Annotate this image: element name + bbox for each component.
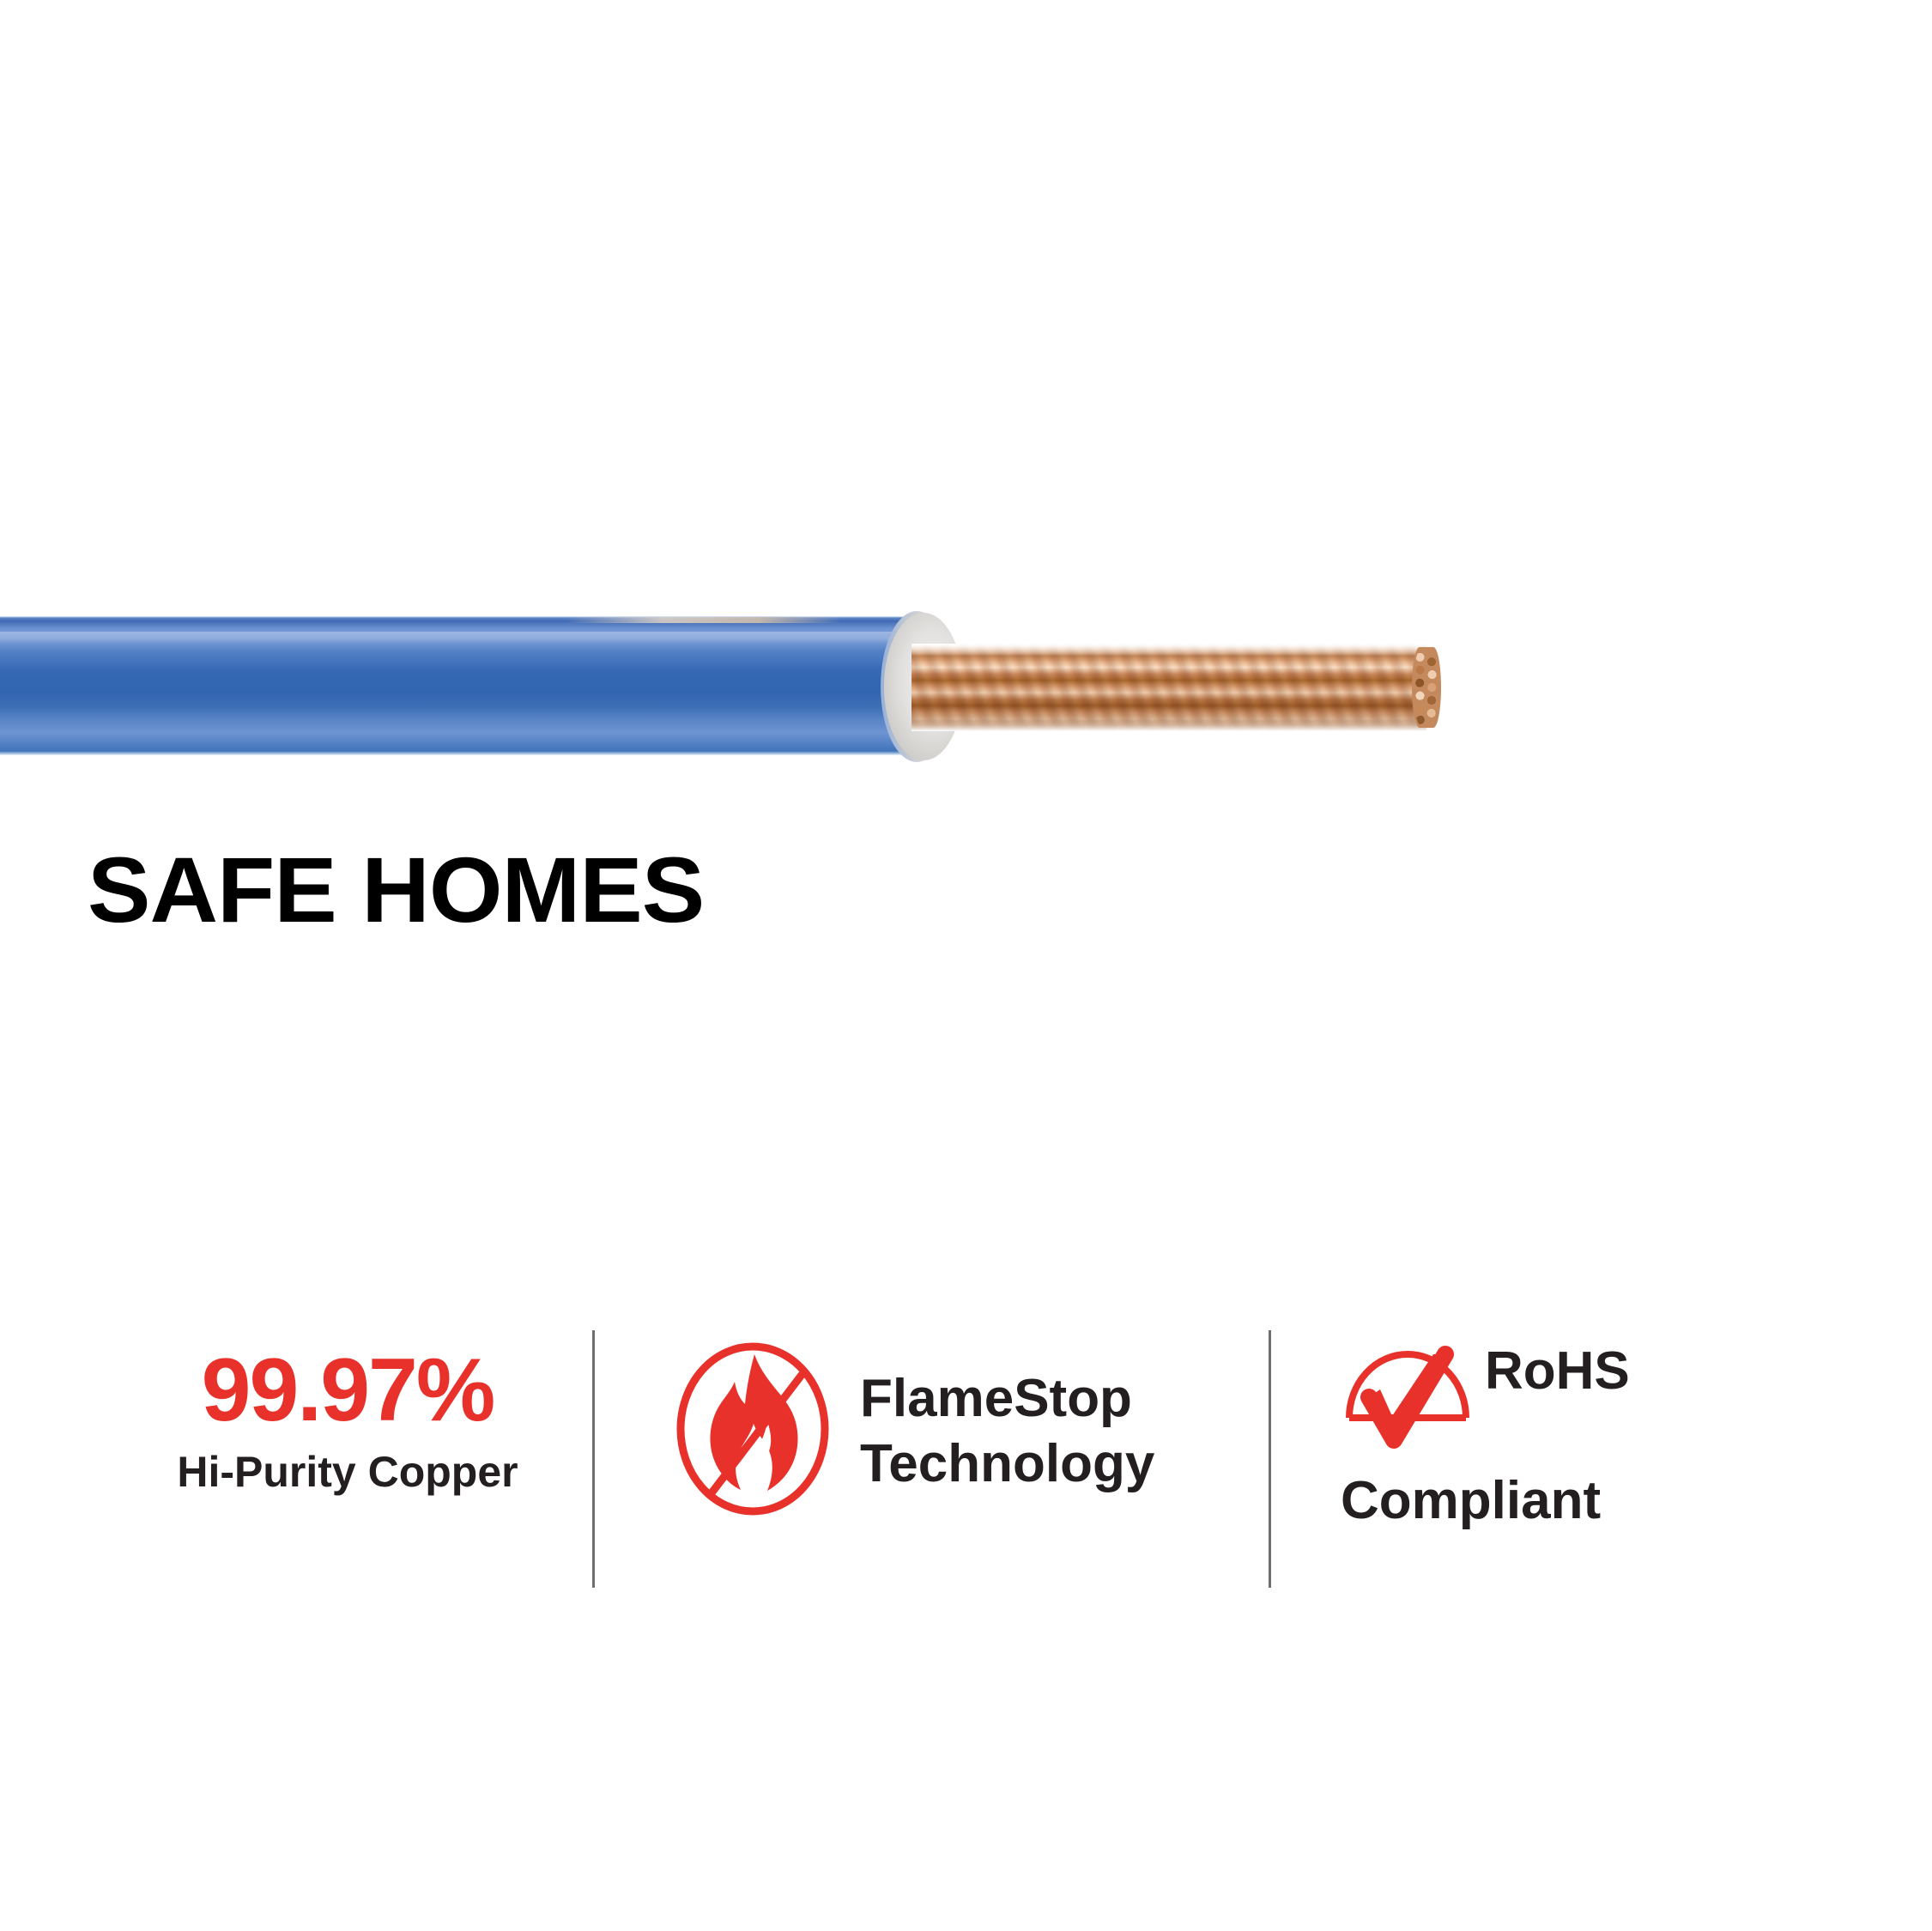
copper-cut-end <box>1412 647 1441 728</box>
feature-row: 99.97% Hi-Purity Copper FlameStop <box>0 1322 1932 1596</box>
rohs-label-line2: Compliant <box>1341 1468 1630 1534</box>
poster-canvas: SAFE HOMES 99.97% Hi-Purity Copper <box>0 0 1932 1931</box>
copper-conductor-bundle <box>911 644 1426 731</box>
rohs-block: RoHS Compliant <box>1341 1339 1630 1534</box>
copper-strand-twist <box>911 644 1426 731</box>
rohs-top-row: RoHS <box>1341 1339 1630 1467</box>
feature-flamestop-technology: FlameStop Technology <box>671 1339 1203 1523</box>
feature-divider-2 <box>1269 1330 1271 1588</box>
copper-edge-fade-bottom <box>911 719 1426 731</box>
stat-value: 99.97% <box>202 1346 494 1435</box>
stat-block: 99.97% Hi-Purity Copper <box>146 1346 549 1495</box>
feature-divider-1 <box>592 1330 595 1588</box>
feature-rohs-compliant: RoHS Compliant <box>1341 1339 1881 1534</box>
feature-hi-purity-copper: 99.97% Hi-Purity Copper <box>146 1346 549 1495</box>
feature-label-line1: FlameStop <box>860 1369 1132 1428</box>
cable-product-image <box>0 601 1536 777</box>
feature-label: FlameStop Technology <box>860 1366 1154 1497</box>
copper-cut-end-strands <box>1414 650 1439 725</box>
no-flame-icon <box>671 1339 834 1523</box>
stat-label: Hi-Purity Copper <box>177 1449 518 1495</box>
copper-edge-fade-top <box>911 644 1426 656</box>
cable-blue-insulation <box>0 616 931 755</box>
rohs-check-arc-icon <box>1341 1334 1478 1467</box>
rohs-label-line1: RoHS <box>1485 1339 1630 1404</box>
page-title: SAFE HOMES <box>88 843 704 937</box>
feature-label-line2: Technology <box>860 1432 1154 1497</box>
